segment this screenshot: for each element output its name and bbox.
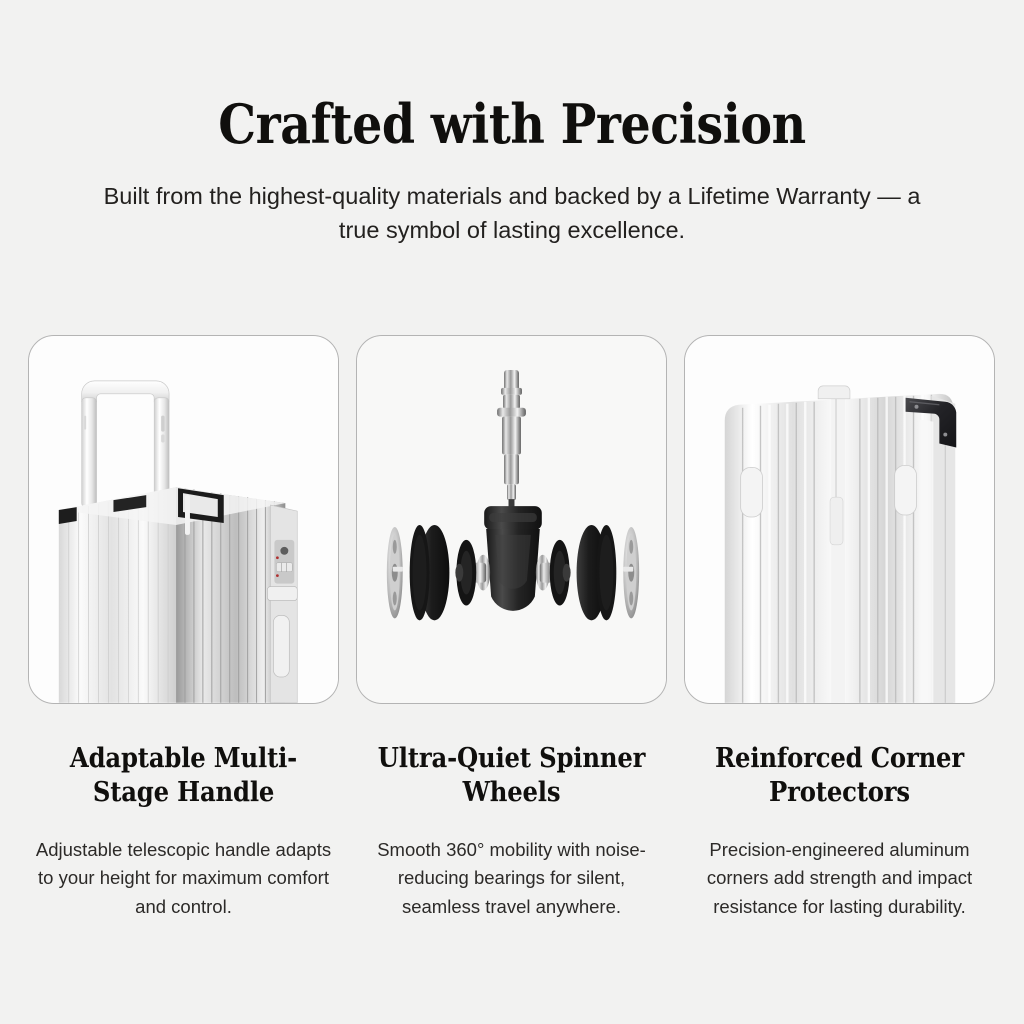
feature-card-corner: Reinforced Corner Protectors Precision-e… — [684, 335, 995, 922]
card-title-wheels: Ultra-Quiet Spinner Wheels — [372, 742, 652, 810]
exploded-spinner-wheel-assembly-illustration — [357, 336, 666, 703]
card-body-wheels: Smooth 360° mobility with noise-reducing… — [362, 836, 662, 922]
caster-housing — [484, 506, 542, 611]
page-header: Crafted with Precision Built from the hi… — [0, 0, 1024, 247]
tsa-lock — [274, 540, 294, 584]
card-title-corner: Reinforced Corner Protectors — [700, 742, 980, 810]
left-hubcap — [387, 527, 403, 618]
suitcase-corner-protector-illustration — [685, 336, 994, 703]
card-body-handle: Adjustable telescopic handle adapts to y… — [34, 836, 334, 922]
suitcase-handle-image-frame — [28, 335, 339, 704]
page-subtitle: Built from the highest-quality materials… — [87, 179, 937, 247]
spinner-wheel-image-frame — [356, 335, 667, 704]
right-hubcap — [623, 527, 639, 618]
feature-card-wheels: Ultra-Quiet Spinner Wheels Smooth 360° m… — [356, 335, 667, 922]
corner-protector-image-frame — [684, 335, 995, 704]
suitcase-with-telescopic-handle-illustration — [29, 336, 338, 703]
card-body-corner: Precision-engineered aluminum corners ad… — [690, 836, 990, 922]
feature-card-grid: Adaptable Multi-Stage Handle Adjustable … — [28, 335, 996, 922]
feature-card-handle: Adaptable Multi-Stage Handle Adjustable … — [28, 335, 339, 922]
feature-page: Crafted with Precision Built from the hi… — [0, 0, 1024, 1024]
card-title-handle: Adaptable Multi-Stage Handle — [44, 742, 324, 810]
page-title: Crafted with Precision — [61, 96, 962, 153]
